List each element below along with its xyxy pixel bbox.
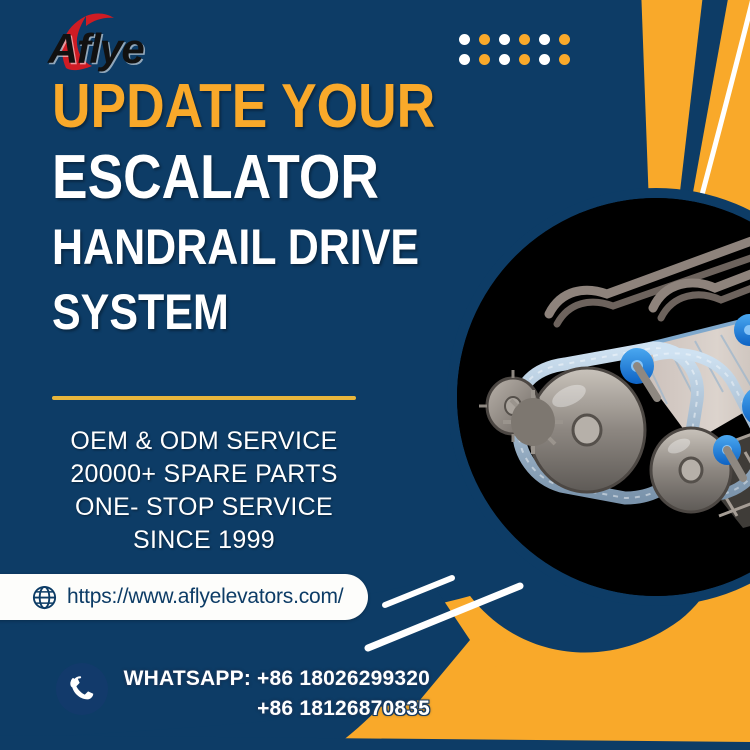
dot — [459, 34, 470, 45]
promotional-banner: Aflye UPDATE YOUR ESCALATOR HANDRAIL DRI… — [0, 0, 750, 750]
logo-wordmark: Aflye — [48, 28, 143, 70]
phone-badge[interactable] — [56, 663, 108, 715]
dot — [479, 34, 490, 45]
headline-line-4: SYSTEM — [52, 289, 396, 337]
feature-item: ONE- STOP SERVICE — [24, 491, 384, 524]
phone-icon — [67, 674, 97, 704]
globe-icon — [32, 585, 57, 610]
dot — [459, 54, 470, 65]
dot — [479, 54, 490, 65]
feature-item: SINCE 1999 — [24, 524, 384, 557]
dot — [519, 34, 530, 45]
brand-logo[interactable]: Aflye — [48, 12, 178, 74]
product-photo — [457, 198, 750, 596]
headline-line-1: UPDATE YOUR — [52, 78, 396, 137]
dot — [519, 54, 530, 65]
website-pill[interactable]: https://www.aflyelevators.com/ — [0, 574, 368, 620]
whatsapp-number-primary[interactable]: WHATSAPP: +86 18026299320 — [120, 664, 430, 694]
feature-item: OEM & ODM SERVICE — [24, 425, 384, 458]
headline-line-2: ESCALATOR — [52, 149, 396, 208]
dot — [499, 34, 510, 45]
dot — [559, 34, 570, 45]
dot — [539, 54, 550, 65]
contact-block: WHATSAPP: +86 18026299320 +86 1812687083… — [120, 664, 430, 724]
decorative-dot-grid — [455, 30, 575, 70]
headline-line-3: HANDRAIL DRIVE — [52, 224, 396, 272]
product-photo-ring — [447, 188, 750, 606]
headline-block: UPDATE YOUR ESCALATOR HANDRAIL DRIVE SYS… — [52, 78, 452, 337]
gold-divider — [52, 396, 356, 400]
website-url[interactable]: https://www.aflyelevators.com/ — [67, 585, 343, 609]
handrail-drive-illustration — [457, 198, 750, 596]
feature-list: OEM & ODM SERVICE 20000+ SPARE PARTS ONE… — [24, 425, 384, 557]
dot — [539, 34, 550, 45]
dot — [559, 54, 570, 65]
dot — [499, 54, 510, 65]
feature-item: 20000+ SPARE PARTS — [24, 458, 384, 491]
whatsapp-number-secondary[interactable]: +86 18126870835 — [120, 694, 430, 724]
